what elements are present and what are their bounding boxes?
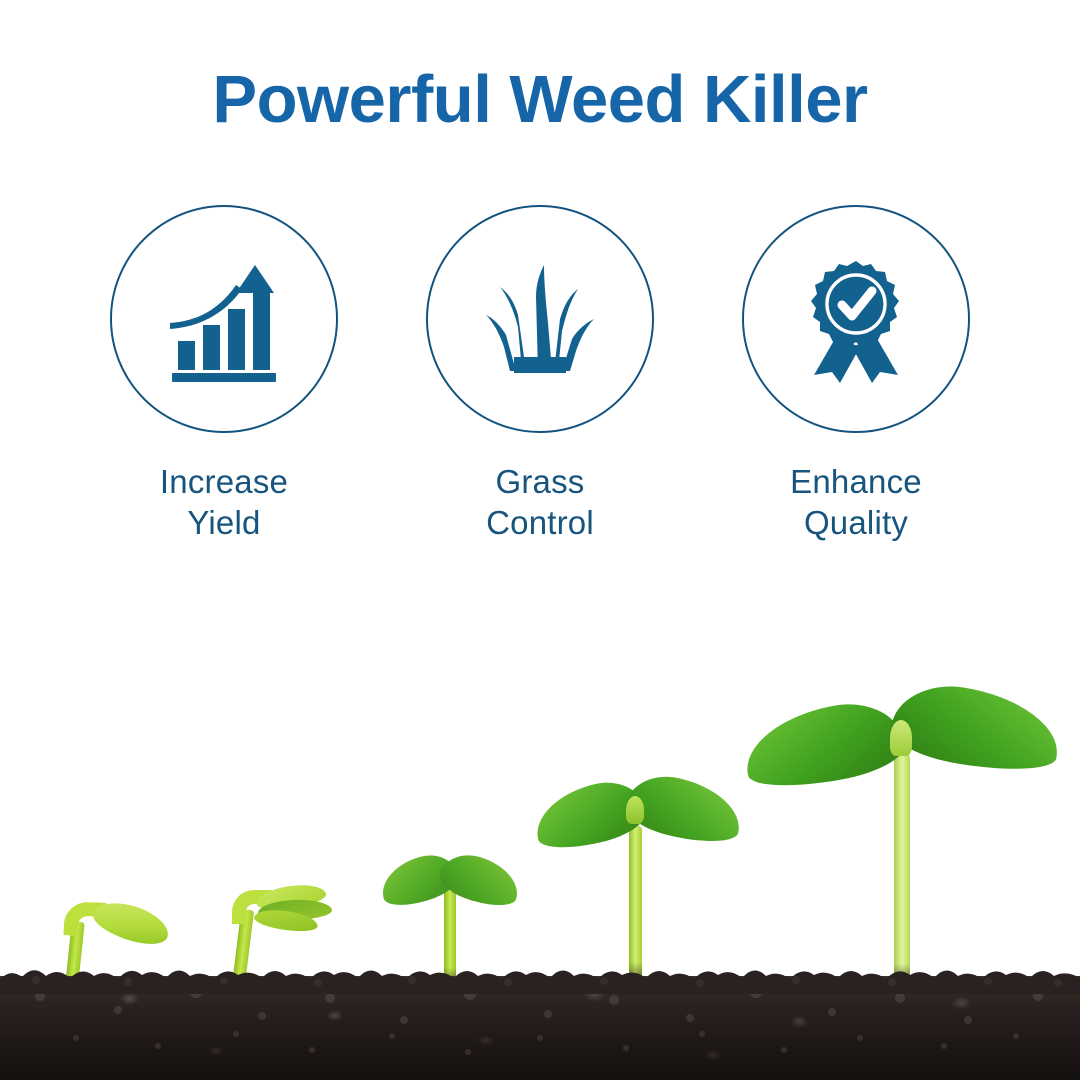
growth-chart-icon bbox=[158, 253, 290, 385]
feature-item-enhance-quality[interactable]: Enhance Quality bbox=[741, 205, 971, 544]
feature-label-grass-control: Grass Control bbox=[486, 461, 594, 544]
apical-bud bbox=[626, 796, 644, 824]
leaf-left bbox=[739, 695, 909, 796]
feature-icon-circle bbox=[426, 205, 654, 433]
leaf-right bbox=[887, 677, 1065, 778]
feature-label-enhance-quality: Enhance Quality bbox=[790, 461, 922, 544]
stem bbox=[894, 754, 910, 994]
plant-growth-photo bbox=[0, 620, 1080, 1080]
feature-label-increase-yield: Increase Yield bbox=[160, 461, 288, 544]
sprout-stage-3 bbox=[378, 844, 528, 994]
feature-item-grass-control[interactable]: Grass Control bbox=[425, 205, 655, 544]
feature-list: Increase Yield bbox=[0, 205, 1080, 544]
soil-bed bbox=[0, 976, 1080, 1080]
sprout-stage-4 bbox=[528, 764, 744, 994]
quality-badge-icon bbox=[792, 255, 920, 383]
feature-item-increase-yield[interactable]: Increase Yield bbox=[109, 205, 339, 544]
feature-icon-circle bbox=[110, 205, 338, 433]
page-title: Powerful Weed Killer bbox=[0, 66, 1080, 133]
grass-icon bbox=[474, 253, 606, 385]
sprout-stage-5 bbox=[732, 674, 1062, 994]
feature-icon-circle bbox=[742, 205, 970, 433]
apical-bud bbox=[890, 720, 912, 756]
poster-root: Powerful Weed Killer bbox=[0, 0, 1080, 1080]
